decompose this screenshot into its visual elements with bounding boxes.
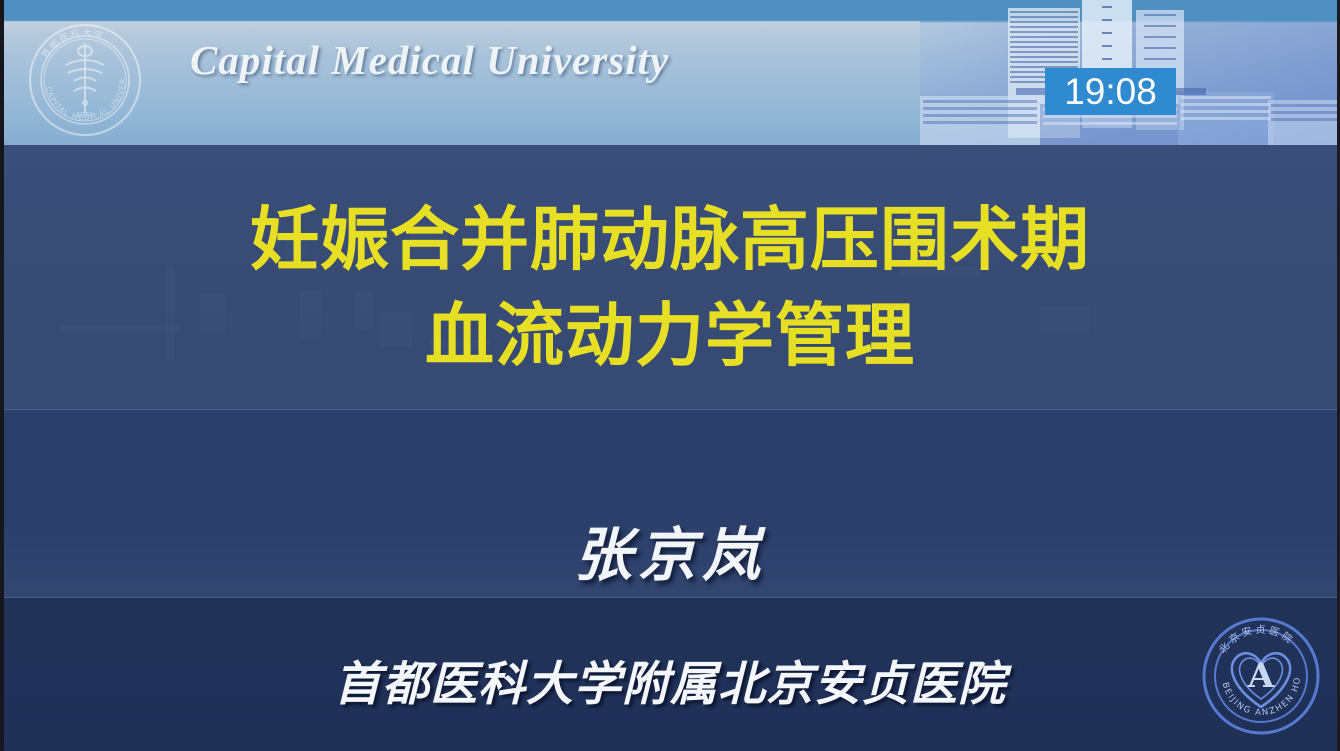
slide-title-line-2: 血流动力学管理 (0, 288, 1340, 384)
recording-timestamp: 19:08 (1045, 68, 1176, 115)
slide-header: 首都医科大学 CAPITAL MEDICAL UNIVERSITY 1960 C… (0, 0, 1340, 145)
building-block-1 (920, 96, 1040, 145)
institution-name: 首都医科大学附属北京安贞医院 (0, 655, 1340, 715)
capital-medical-university-seal: 首都医科大学 CAPITAL MEDICAL UNIVERSITY 1960 (22, 21, 148, 139)
presentation-slide: 首都医科大学 CAPITAL MEDICAL UNIVERSITY 1960 C… (0, 0, 1340, 751)
svg-text:1960: 1960 (76, 111, 94, 119)
slide-title-line-1: 妊娠合并肺动脉高压围术期 (0, 192, 1340, 288)
svg-text:A: A (1247, 656, 1275, 696)
svg-text:首都医科大学: 首都医科大学 (39, 27, 107, 61)
slide-border-left (0, 0, 4, 751)
university-name: Capital Medical University (190, 36, 669, 84)
slide-title: 妊娠合并肺动脉高压围术期 血流动力学管理 (0, 192, 1340, 384)
beijing-anzhen-hospital-seal: A 北京安贞医院 BEIJING ANZHEN HOSPITAL (1200, 615, 1322, 737)
building-block-4 (1268, 100, 1340, 145)
presenter-name: 张京岚 (0, 518, 1340, 592)
building-block-3 (1178, 92, 1274, 145)
